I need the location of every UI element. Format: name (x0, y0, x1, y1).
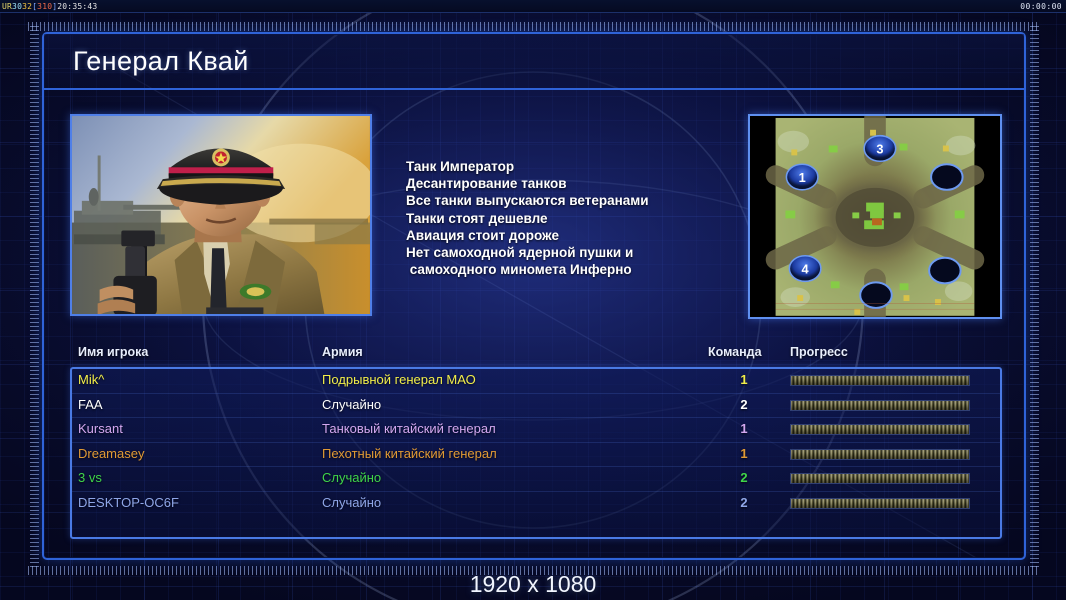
progress-bar-fill (791, 376, 969, 385)
player-team: 1 (734, 446, 754, 461)
progress-bar (790, 498, 970, 509)
player-army: Подрывной генерал МАО (322, 372, 476, 387)
player-team: 1 (734, 372, 754, 387)
player-team: 2 (734, 495, 754, 510)
table-row[interactable]: KursantТанковый китайский генерал1 (72, 418, 1000, 443)
progress-bar-fill (791, 450, 969, 459)
progress-bar (790, 375, 970, 386)
ability-line: Все танки выпускаются ветеранами (406, 192, 756, 209)
progress-bar (790, 424, 970, 435)
match-timer: 00:00:00 (1020, 0, 1062, 13)
game-lobby-screen: UR3032[310]20:35:43 00:00:00 Генерал Ква… (0, 0, 1066, 600)
player-team: 1 (734, 421, 754, 436)
table-row[interactable]: FAAСлучайно2 (72, 394, 1000, 419)
ruler-ticks-left (30, 26, 39, 568)
ability-line: Нет самоходной ядерной пушки и (406, 244, 756, 261)
status-token-32: 32 (22, 2, 32, 11)
ability-line: Авиация стоит дороже (406, 227, 756, 244)
table-row[interactable]: 3 vsСлучайно2 (72, 467, 1000, 492)
player-name: Dreamasey (78, 446, 144, 461)
map-preview-art: 1 3 4 (750, 116, 1000, 318)
column-header-progress: Прогресс (790, 345, 848, 359)
svg-text:3: 3 (876, 141, 883, 156)
ability-line: Танки стоят дешевле (406, 210, 756, 227)
player-name: DESKTOP-OC6F (78, 495, 179, 510)
progress-bar (790, 473, 970, 484)
player-table-body: Mik^Подрывной генерал МАО1FAAСлучайно2Ku… (70, 367, 1002, 539)
table-row[interactable]: Mik^Подрывной генерал МАО1 (72, 369, 1000, 394)
status-token-ur: UR (2, 2, 12, 11)
player-table-header: Имя игрока Армия Команда Прогресс (70, 345, 1002, 367)
ruler-ticks-top (28, 22, 1040, 31)
status-token-clock: 20:35:43 (57, 2, 97, 11)
progress-bar-fill (791, 474, 969, 483)
status-token-ping: 310 (37, 2, 52, 11)
lobby-content: Танк Император Десантирование танков Все… (44, 92, 1024, 560)
player-army: Пехотный китайский генерал (322, 446, 497, 461)
page-title: Генерал Квай (73, 46, 249, 77)
map-preview[interactable]: 1 3 4 (748, 114, 1002, 319)
ability-line: Танк Император (406, 158, 756, 175)
player-army: Случайно (322, 495, 381, 510)
player-army: Случайно (322, 470, 381, 485)
status-token-30: 30 (12, 2, 22, 11)
ruler-ticks-right (1030, 26, 1039, 568)
status-bar-left: UR3032[310]20:35:43 (2, 0, 97, 13)
general-ability-list: Танк Император Десантирование танков Все… (406, 158, 756, 278)
ability-line: самоходного миномета Инферно (406, 261, 756, 278)
general-kwai-portrait-art (72, 116, 370, 315)
column-header-name: Имя игрока (78, 345, 148, 359)
player-army: Танковый китайский генерал (322, 421, 496, 436)
general-info-row: Танк Император Десантирование танков Все… (70, 114, 1002, 327)
svg-text:1: 1 (799, 170, 806, 185)
progress-bar (790, 449, 970, 460)
player-name: FAA (78, 397, 103, 412)
progress-bar-fill (791, 499, 969, 508)
svg-text:4: 4 (802, 261, 810, 276)
player-team: 2 (734, 397, 754, 412)
lobby-frame: Генерал Квай (42, 32, 1026, 560)
progress-bar-fill (791, 425, 969, 434)
column-header-team: Команда (708, 345, 762, 359)
player-team: 2 (734, 470, 754, 485)
progress-bar (790, 400, 970, 411)
player-table: Имя игрока Армия Команда Прогресс Mik^По… (70, 345, 1002, 541)
status-bar: UR3032[310]20:35:43 00:00:00 (0, 0, 1066, 13)
column-header-army: Армия (322, 345, 363, 359)
player-name: 3 vs (78, 470, 102, 485)
progress-bar-fill (791, 401, 969, 410)
ability-line: Десантирование танков (406, 175, 756, 192)
table-row[interactable]: DreamaseyПехотный китайский генерал1 (72, 443, 1000, 468)
resolution-label: 1920 x 1080 (0, 571, 1066, 598)
title-bar: Генерал Квай (44, 34, 1024, 90)
player-name: Mik^ (78, 372, 104, 387)
player-name: Kursant (78, 421, 123, 436)
table-row[interactable]: DESKTOP-OC6FСлучайно2 (72, 492, 1000, 517)
player-army: Случайно (322, 397, 381, 412)
general-portrait (70, 114, 372, 316)
